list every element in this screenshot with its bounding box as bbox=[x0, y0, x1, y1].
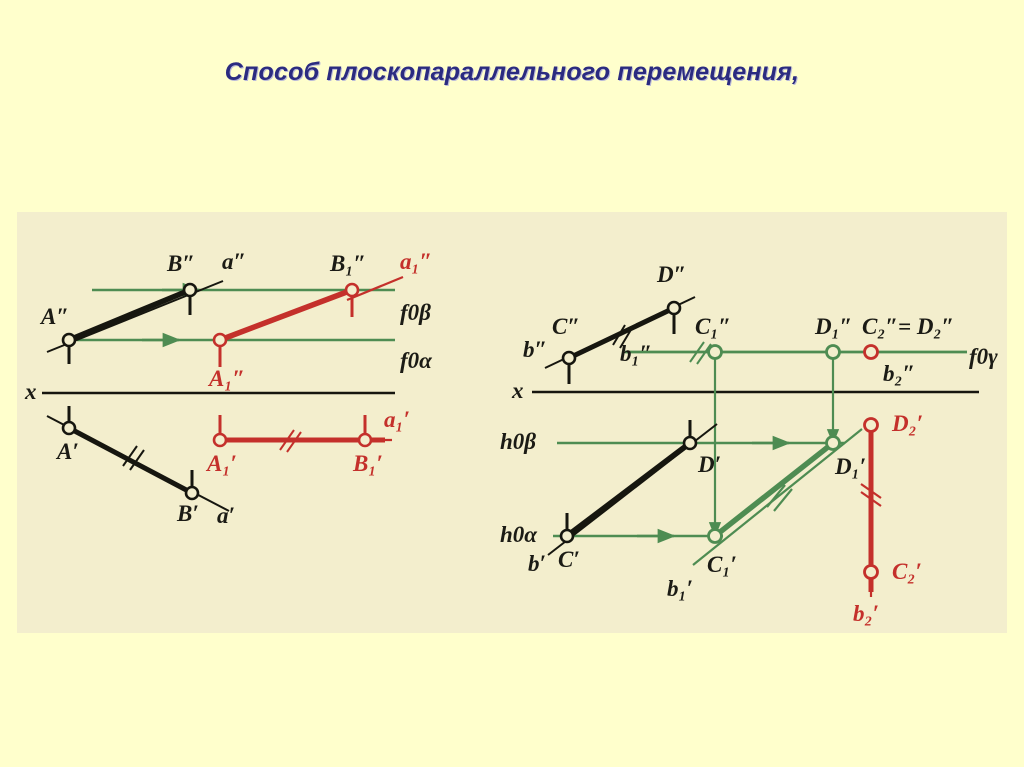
label-line-b2-prime: b₂′ bbox=[853, 602, 879, 625]
figure-panel: A″ B″ a″ A₁″ B₁″ a₁″ f0β f0α x A′ B′ a′ … bbox=[17, 212, 1007, 633]
label-line-b-double: b″ bbox=[523, 338, 547, 361]
label-C1-double: C₁″ bbox=[695, 315, 731, 338]
label-D-prime: D′ bbox=[698, 453, 721, 476]
label-C-prime: C′ bbox=[558, 548, 580, 571]
label-line-b1-double: b₁″ bbox=[620, 342, 652, 365]
label-C-double: C″ bbox=[552, 315, 580, 338]
label-A1-double: A₁″ bbox=[209, 367, 245, 390]
label-C2-D2-double: C₂″= D₂″ bbox=[862, 315, 954, 338]
page-title: Способ плоскопараллельного перемещения, bbox=[0, 58, 1024, 87]
label-line-a1-prime: a₁′ bbox=[384, 408, 410, 431]
right-segment-cd2-horizontal bbox=[861, 419, 881, 598]
label-line-a-double: a″ bbox=[222, 250, 246, 273]
left-segment-ab-frontal bbox=[47, 281, 223, 364]
label-D1-prime: D₁′ bbox=[835, 455, 866, 478]
label-B-double: B″ bbox=[167, 252, 195, 275]
label-right-axis-x: x bbox=[512, 379, 524, 402]
label-B-prime: B′ bbox=[177, 502, 199, 525]
label-line-b-prime: b′ bbox=[528, 552, 546, 575]
label-C1-prime: C₁′ bbox=[707, 553, 737, 576]
right-segment-cd1-horizontal bbox=[693, 429, 862, 565]
slide-canvas: Способ плоскопараллельного перемещения, bbox=[0, 0, 1024, 767]
label-f0beta: f0β bbox=[400, 301, 431, 324]
label-A-double: A″ bbox=[41, 305, 69, 328]
right-figure-group bbox=[532, 297, 979, 597]
label-D2-prime: D₂′ bbox=[892, 412, 923, 435]
label-C2-prime: C₂′ bbox=[892, 560, 922, 583]
left-segment-ab1-horizontal bbox=[214, 415, 392, 452]
label-line-a-prime: a′ bbox=[217, 504, 235, 527]
label-line-a1-double: a₁″ bbox=[400, 250, 432, 273]
label-B1-double: B₁″ bbox=[330, 252, 366, 275]
label-D1-double: D₁″ bbox=[815, 315, 852, 338]
descriptive-geometry-drawing bbox=[17, 212, 1007, 633]
label-D-double: D″ bbox=[657, 263, 686, 286]
label-B1-prime: B₁′ bbox=[353, 452, 383, 475]
label-f0gamma: f0γ bbox=[969, 345, 998, 368]
right-f0gamma-line bbox=[625, 342, 967, 364]
label-A-prime: A′ bbox=[57, 440, 79, 463]
label-line-b1-prime: b₁′ bbox=[667, 577, 693, 600]
label-h0beta: h0β bbox=[500, 430, 536, 453]
label-line-b2-double: b₂″ bbox=[883, 362, 915, 385]
label-A1-prime: A₁′ bbox=[207, 452, 237, 475]
label-f0alpha: f0α bbox=[400, 349, 432, 372]
label-left-axis-x: x bbox=[25, 380, 37, 403]
label-h0alpha: h0α bbox=[500, 523, 537, 546]
